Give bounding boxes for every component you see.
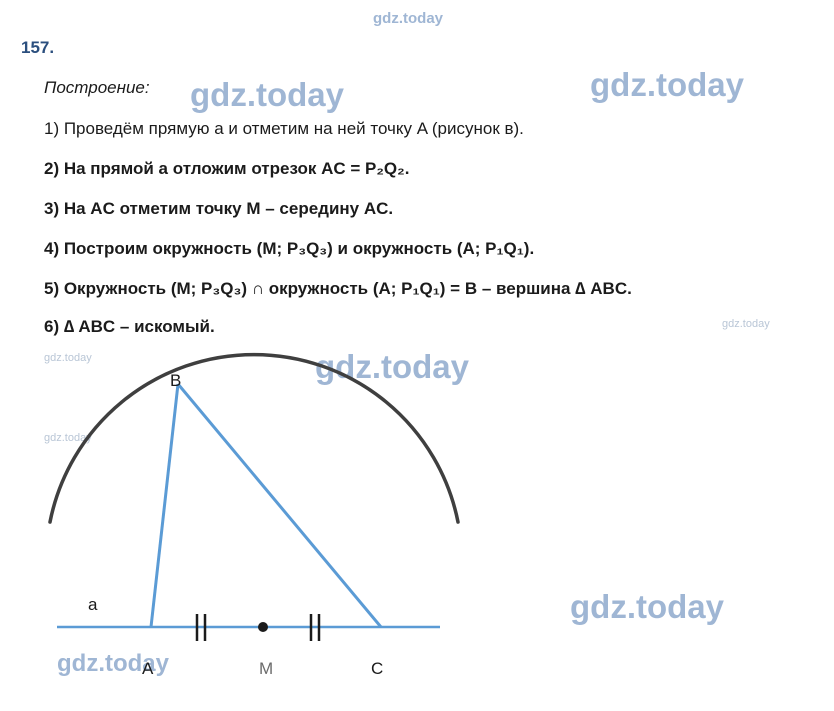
watermark-1: gdz.today — [190, 76, 344, 114]
watermark-small-1: gdz.today — [722, 318, 770, 330]
watermark-top: gdz.today — [373, 10, 443, 27]
side-ab — [151, 384, 178, 627]
label-midpoint-m: M — [259, 659, 273, 679]
label-line-a: a — [88, 595, 97, 615]
side-bc — [178, 384, 381, 627]
geometry-figure — [0, 330, 834, 711]
arc-circle-m — [50, 355, 458, 522]
label-vertex-c: C — [371, 659, 383, 679]
section-heading: Построение: — [44, 78, 150, 98]
task-number: 157. — [21, 38, 54, 58]
step-3: 3) На AC отметим точку M – середину AC. — [44, 199, 393, 219]
step-5: 5) Окружность (M; P₃Q₃) ∩ окружность (A;… — [44, 279, 632, 299]
label-vertex-b: B — [170, 371, 181, 391]
step-1: 1) Проведём прямую a и отметим на ней то… — [44, 119, 524, 139]
label-vertex-a: A — [142, 659, 153, 679]
watermark-2: gdz.today — [590, 66, 744, 104]
step-2: 2) На прямой a отложим отрезок AC = P₂Q₂… — [44, 159, 409, 179]
step-4: 4) Построим окружность (M; P₃Q₃) и окруж… — [44, 239, 534, 259]
point-m — [258, 622, 268, 632]
